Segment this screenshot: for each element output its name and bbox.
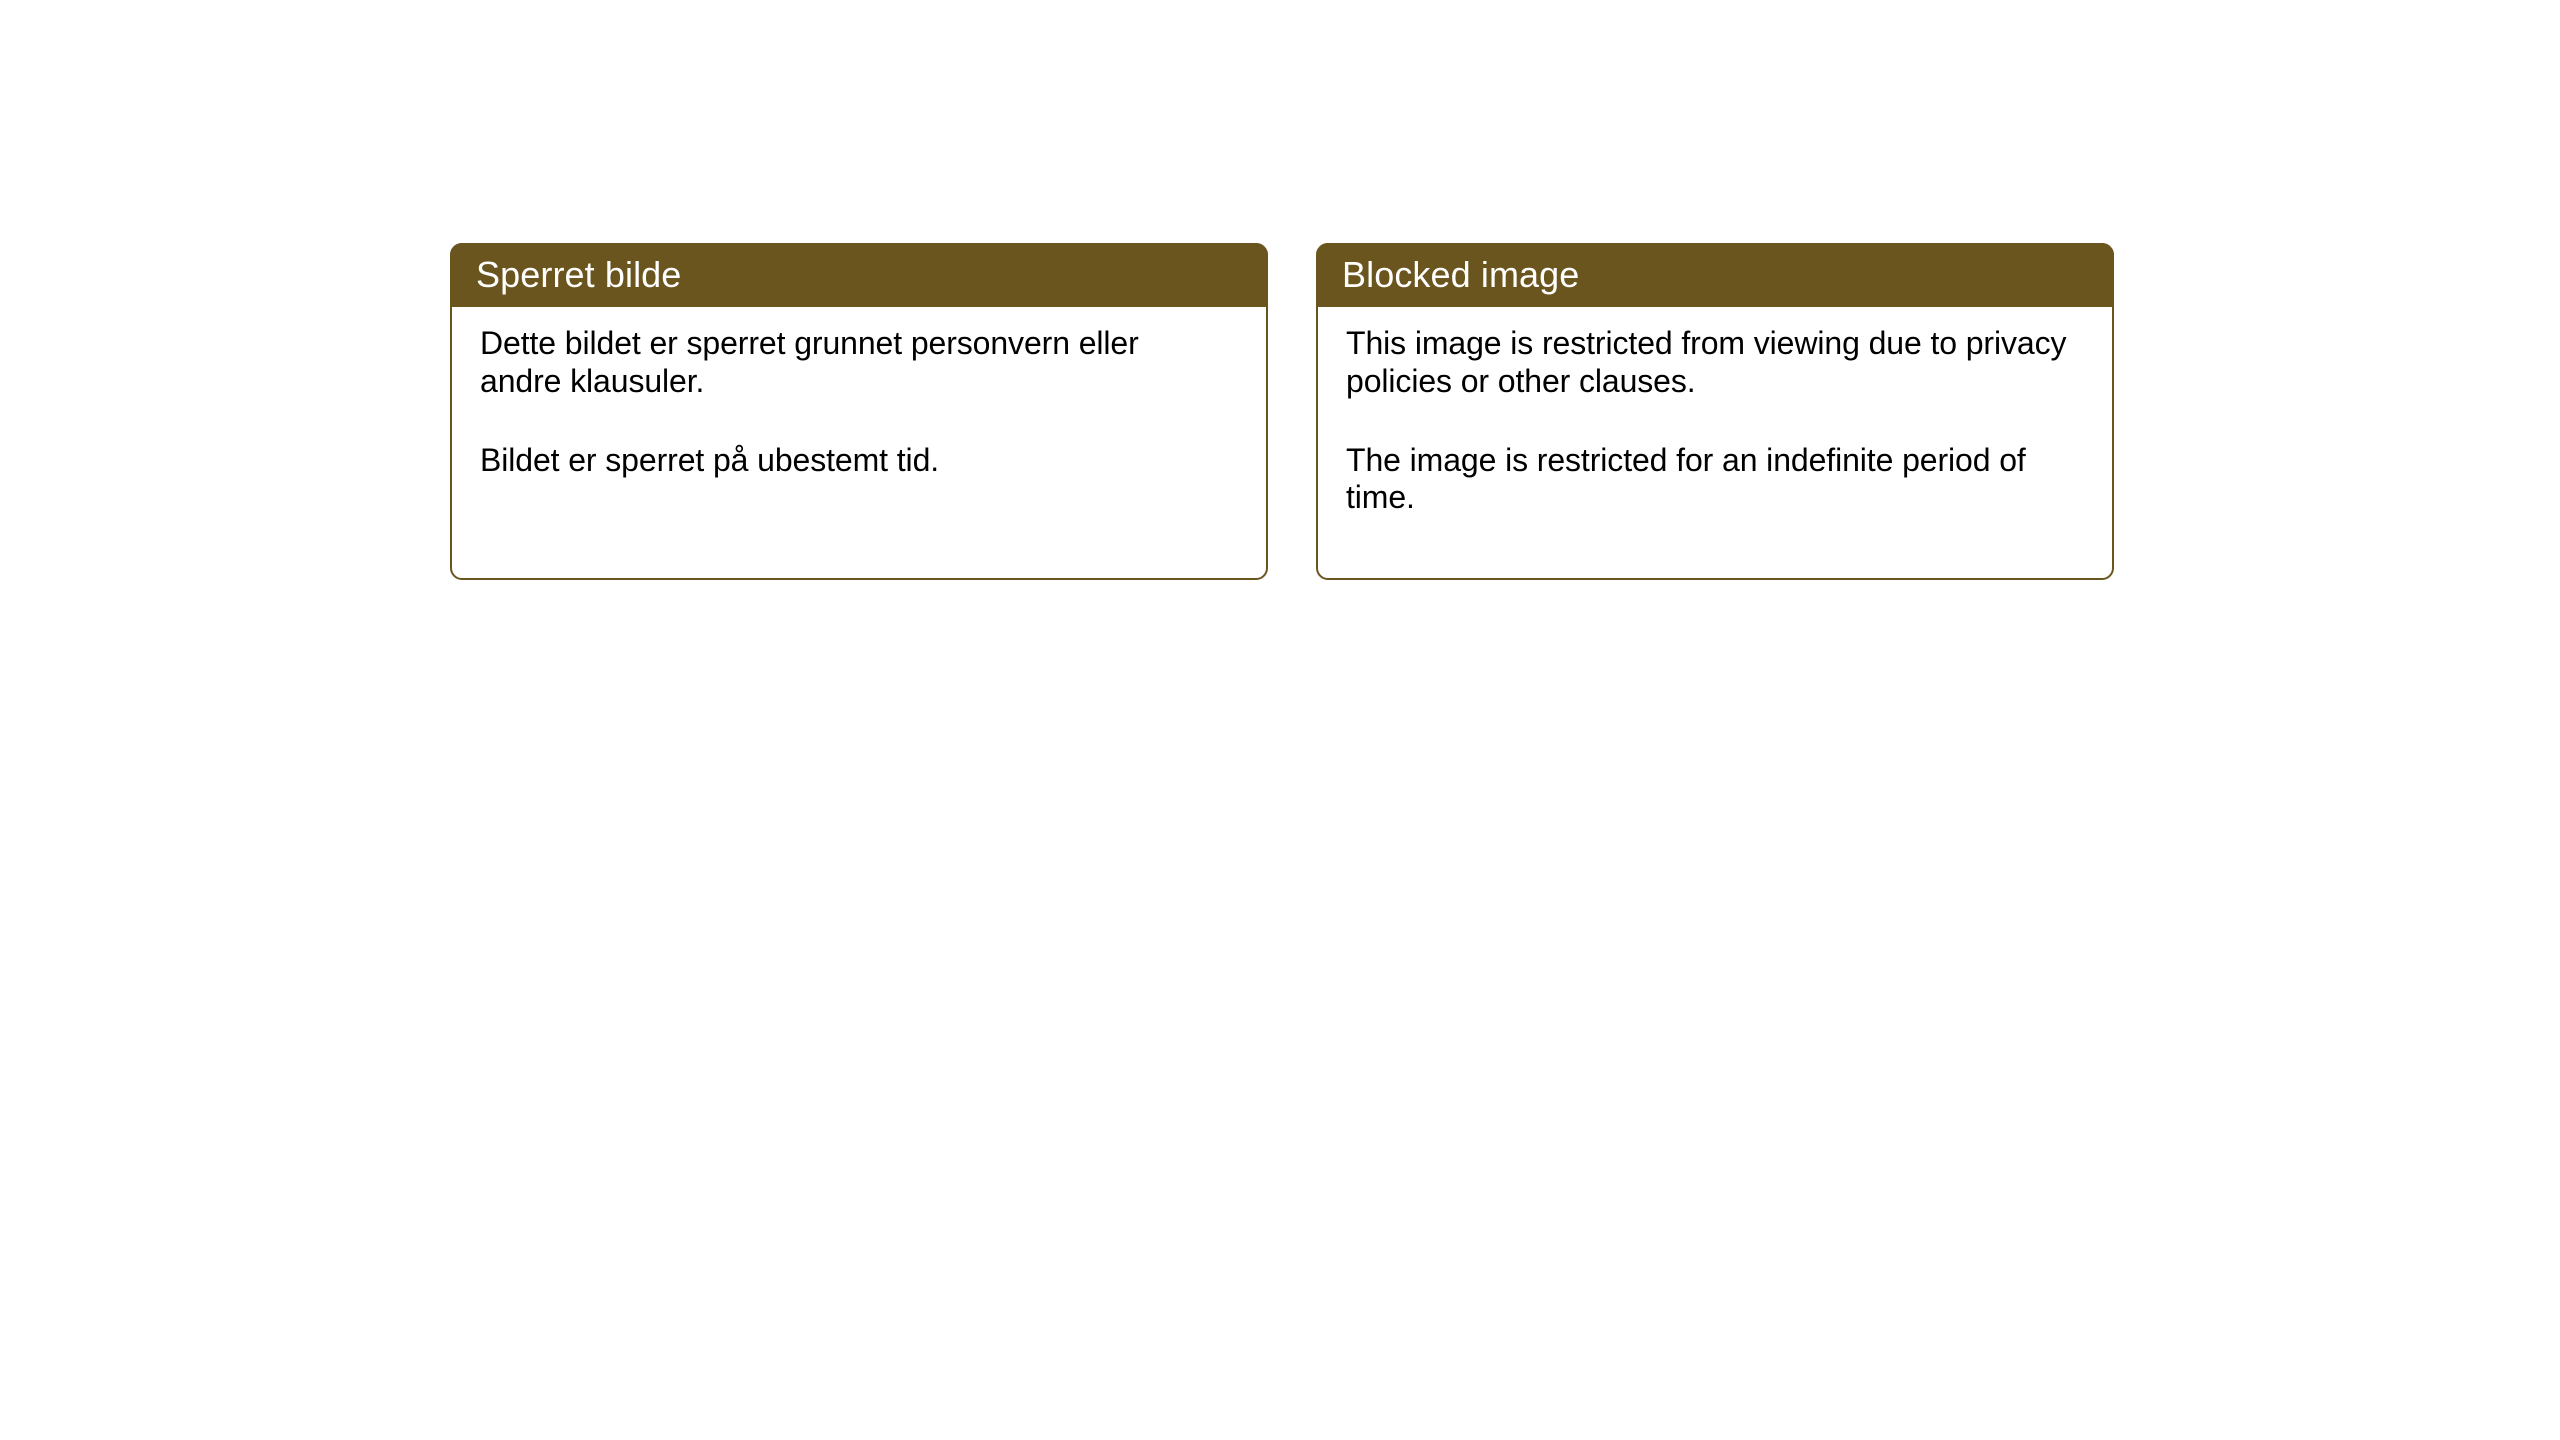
page-canvas: Sperret bilde Dette bildet er sperret gr… bbox=[0, 0, 2560, 1440]
card-paragraph-duration-en: The image is restricted for an indefinit… bbox=[1346, 442, 2084, 518]
blocked-image-notice-card-no: Sperret bilde Dette bildet er sperret gr… bbox=[450, 243, 1268, 580]
card-body-no: Dette bildet er sperret grunnet personve… bbox=[452, 307, 1266, 578]
card-body-en: This image is restricted from viewing du… bbox=[1318, 307, 2112, 578]
card-header-en: Blocked image bbox=[1316, 243, 2114, 307]
blocked-image-notice-card-en: Blocked image This image is restricted f… bbox=[1316, 243, 2114, 580]
card-title-no: Sperret bilde bbox=[476, 257, 681, 293]
card-paragraph-reason-en: This image is restricted from viewing du… bbox=[1346, 325, 2084, 401]
card-header-no: Sperret bilde bbox=[450, 243, 1268, 307]
card-paragraph-duration-no: Bildet er sperret på ubestemt tid. bbox=[480, 442, 1180, 480]
card-title-en: Blocked image bbox=[1342, 257, 1579, 293]
card-paragraph-reason-no: Dette bildet er sperret grunnet personve… bbox=[480, 325, 1180, 401]
